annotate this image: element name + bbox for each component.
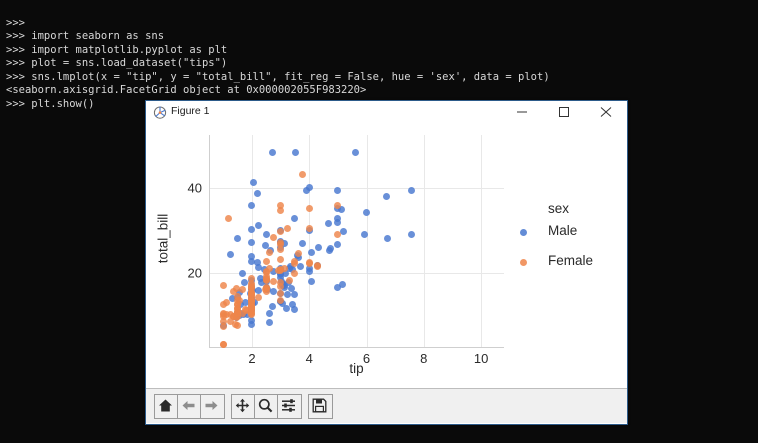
zoom-icon[interactable] [254,394,279,419]
scatter-point [292,149,299,156]
y-tick-label: 20 [174,265,202,280]
scatter-point [384,235,391,242]
save-icon[interactable] [308,394,333,419]
scatter-point [263,273,270,280]
y-axis-spine [209,135,210,347]
scatter-point [306,225,313,232]
close-button[interactable] [585,101,627,123]
scatter-point [314,263,321,270]
figure-canvas[interactable]: tip total_bill sex Male Female 246810204… [146,123,627,388]
scatter-point [263,258,270,265]
close-icon [600,107,612,117]
scatter-point [408,187,415,194]
scatter-point [250,179,257,186]
legend-swatch-female [520,259,527,266]
window-title-bar[interactable]: Figure 1 [146,101,627,124]
legend-item-female: Female [518,250,623,276]
scatter-point [299,171,306,178]
home-icon[interactable] [154,394,179,419]
scatter-point [248,226,255,233]
scatter-point [270,278,277,285]
scatter-point [220,282,227,289]
scatter-point [334,219,341,226]
scatter-point [277,279,284,286]
scatter-point [327,245,334,252]
scatter-point [277,239,284,246]
x-tick-label: 6 [363,351,370,366]
minimize-icon [516,107,528,117]
scatter-point [255,287,262,294]
scatter-point [352,149,359,156]
scatter-point [308,278,315,285]
scatter-point [248,253,255,260]
toolbar-separator-1 [223,394,227,417]
scatter-point [334,231,341,238]
legend-label-female: Female [548,253,593,268]
scatter-point [284,291,291,298]
scatter-point [248,202,255,209]
scatter-point [325,220,332,227]
pan-icon[interactable] [231,394,256,419]
scatter-point [306,205,313,212]
scatter-point [266,249,273,256]
scatter-point [340,228,347,235]
scatter-point [291,215,298,222]
console-output: >>> >>> import seaborn as sns >>> import… [6,17,550,112]
scatter-point [225,215,232,222]
figure-window: Figure 1 tip total_bill sex Male Female … [145,100,628,425]
scatter-point [339,281,346,288]
window-title: Figure 1 [171,105,210,117]
scatter-point [263,285,270,292]
scatter-point [254,259,261,266]
scatter-point [270,288,277,295]
scatter-point [220,341,227,348]
maximize-button[interactable] [543,101,585,123]
forward-arrow-icon[interactable] [200,394,225,419]
scatter-point [263,231,270,238]
y-axis-label: total_bill [156,184,171,294]
matplotlib-toolbar[interactable] [146,388,627,423]
scatter-point [234,322,241,329]
legend-swatch-male [520,229,527,236]
legend-item-male: Male [518,220,623,246]
scatter-point [277,246,284,253]
scatter-point [266,310,273,317]
scatter-point [239,286,246,293]
x-gridline [424,135,425,347]
scatter-point [248,321,255,328]
scatter-point [297,263,304,270]
configure-subplots-icon[interactable] [277,394,302,419]
scatter-point [315,244,322,251]
x-gridline [481,135,482,347]
x-tick-label: 10 [474,351,488,366]
scatter-point [220,301,227,308]
scatter-point [277,256,284,263]
scatter-point [227,251,234,258]
x-gridline [309,135,310,347]
minimize-button[interactable] [501,101,543,123]
scatter-point [299,240,306,247]
scatter-point [254,190,261,197]
scatter-point [239,270,246,277]
x-tick-label: 4 [306,351,313,366]
scatter-point [291,291,298,298]
scatter-point [269,303,276,310]
legend-title: sex [548,201,623,216]
scatter-point [255,222,262,229]
scatter-point [361,231,368,238]
legend-label-male: Male [548,223,577,238]
x-tick-label: 2 [248,351,255,366]
scatter-point [270,234,277,241]
y-gridline [209,188,504,189]
scatter-point [308,249,315,256]
scatter-point [306,184,313,191]
y-tick-label: 40 [174,181,202,196]
scatter-plot-axes[interactable] [209,135,504,347]
scatter-point [363,209,370,216]
toolbar-separator-2 [300,394,304,417]
scatter-point [255,294,262,301]
scatter-point [408,231,415,238]
y-gridline [209,273,504,274]
scatter-point [234,235,241,242]
x-tick-label: 8 [420,351,427,366]
scatter-point [334,187,341,194]
scatter-point [306,268,313,275]
back-arrow-icon[interactable] [177,394,202,419]
scatter-point [269,149,276,156]
x-axis-spine [209,347,504,348]
maximize-icon [558,107,570,117]
scatter-point [334,241,341,248]
scatter-point [241,279,248,286]
scatter-point [284,225,291,232]
scatter-point [286,277,293,284]
scatter-point [306,260,313,267]
scatter-point [291,270,298,277]
scatter-point [266,319,273,326]
matplotlib-icon [153,105,167,119]
x-gridline [367,135,368,347]
scatter-point [248,239,255,246]
scatter-point [295,250,302,257]
scatter-point [291,306,298,313]
scatter-point [262,242,269,249]
scatter-point [230,288,237,295]
legend: sex Male Female [518,201,623,276]
scatter-point [383,193,390,200]
scatter-point [277,228,284,235]
